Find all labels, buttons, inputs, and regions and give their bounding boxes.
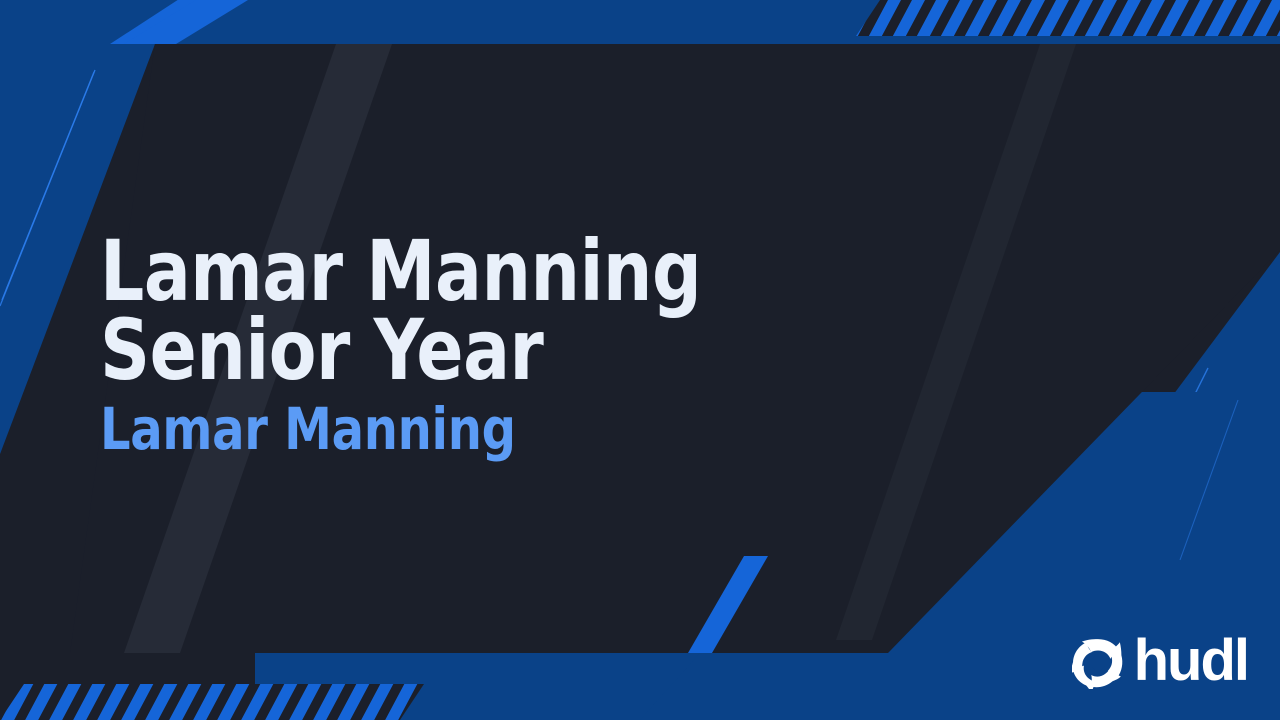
title-slide: Lamar Manning Senior Year Lamar Manning … (0, 0, 1280, 720)
hudl-triskelion-logo-icon (1072, 637, 1124, 689)
stripe-band-bottom-left (0, 684, 424, 720)
hudl-logo: hudl (1072, 634, 1248, 692)
background-graphics (0, 0, 1280, 720)
hudl-wordmark: hudl (1134, 632, 1248, 690)
stripe-band-top-right (856, 0, 1280, 36)
